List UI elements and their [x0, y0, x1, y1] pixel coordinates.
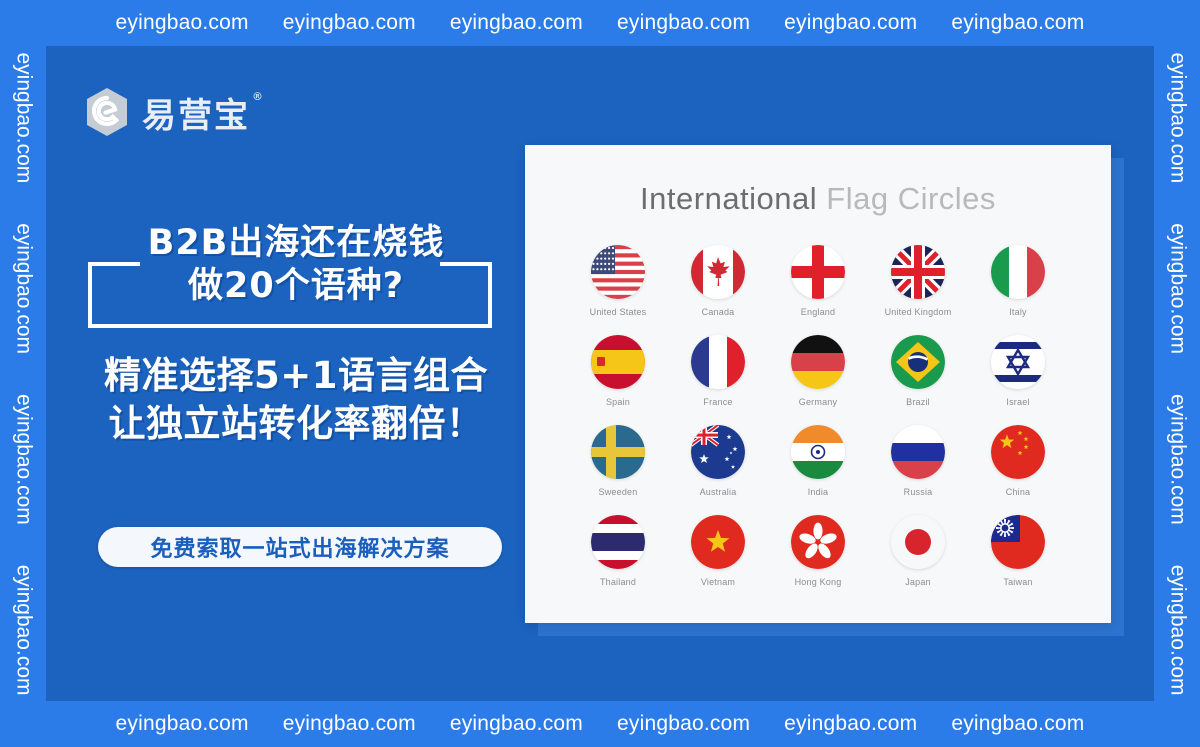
watermark-text: eyingbao.com: [951, 712, 1084, 736]
watermark-text: eyingbao.com: [1165, 223, 1189, 354]
flag-label: Japan: [905, 577, 931, 587]
flag-label: United States: [590, 307, 647, 317]
poster-title-strong: International: [640, 181, 817, 216]
flag-circle-united-kingdom-icon: [891, 245, 945, 299]
watermark-text: eyingbao.com: [617, 11, 750, 35]
watermark-text: eyingbao.com: [784, 712, 917, 736]
flag-item: United Kingdom: [868, 245, 968, 317]
flag-circle-taiwan-icon: [991, 515, 1045, 569]
flag-label: France: [703, 397, 732, 407]
flag-circle-spain-icon: [591, 335, 645, 389]
flag-item: Taiwan: [968, 515, 1068, 587]
flag-circle-hong-kong-icon: [791, 515, 845, 569]
flag-item: United States: [568, 245, 668, 317]
flag-circle-vietnam-icon: [691, 515, 745, 569]
flag-item: Thailand: [568, 515, 668, 587]
flag-circle-thailand-icon: [591, 515, 645, 569]
flag-label: India: [808, 487, 829, 497]
watermark-band-bottom: eyingbao.comeyingbao.comeyingbao.comeyin…: [0, 701, 1200, 747]
watermark-band-top: eyingbao.comeyingbao.comeyingbao.comeyin…: [0, 0, 1200, 46]
watermark-text: eyingbao.com: [116, 11, 249, 35]
headline: B2B出海还在烧钱 做20个语种?: [86, 222, 506, 307]
watermark-text: eyingbao.com: [951, 11, 1084, 35]
flag-label: Vietnam: [701, 577, 735, 587]
flag-label: Taiwan: [1003, 577, 1032, 587]
flag-item: Russia: [868, 425, 968, 497]
flag-item: France: [668, 335, 768, 407]
watermark-band-left: eyingbao.comeyingbao.comeyingbao.comeyin…: [0, 0, 46, 747]
flag-circle-australia-icon: [691, 425, 745, 479]
flag-label: Brazil: [906, 397, 930, 407]
flag-label: Italy: [1009, 307, 1027, 317]
watermark-text: eyingbao.com: [11, 223, 35, 354]
subheadline-line-2: 让独立站转化率翻倍！: [86, 400, 506, 448]
flag-label: Germany: [799, 397, 837, 407]
flag-circle-japan-icon: [891, 515, 945, 569]
flag-circle-italy-icon: [991, 245, 1045, 299]
flag-item: China: [968, 425, 1068, 497]
registered-mark-icon: ®: [252, 91, 265, 102]
brand-wordmark-text: 易营宝: [142, 88, 250, 137]
flag-item: Brazil: [868, 335, 968, 407]
watermark-text: eyingbao.com: [617, 712, 750, 736]
headline-line-1: B2B出海还在烧钱: [148, 223, 445, 263]
hexagon-e-logo-icon: [84, 86, 130, 138]
flag-circle-france-icon: [691, 335, 745, 389]
flag-label: China: [1006, 487, 1031, 497]
flag-item: Italy: [968, 245, 1068, 317]
flag-circle-russia-icon: [891, 425, 945, 479]
subheadline: 精准选择5+1语言组合 让独立站转化率翻倍！: [86, 352, 506, 448]
watermark-text: eyingbao.com: [1165, 564, 1189, 695]
flag-circle-brazil-icon: [891, 335, 945, 389]
flag-circle-england-icon: [791, 245, 845, 299]
banner-canvas: eyingbao.comeyingbao.comeyingbao.comeyin…: [0, 0, 1200, 747]
subheadline-line-1: 精准选择5+1语言组合: [86, 352, 506, 400]
flag-item: India: [768, 425, 868, 497]
watermark-text: eyingbao.com: [283, 11, 416, 35]
watermark-text: eyingbao.com: [450, 712, 583, 736]
flag-item: Vietnam: [668, 515, 768, 587]
flag-item: Hong Kong: [768, 515, 868, 587]
flag-circle-canada-icon: [691, 245, 745, 299]
flag-circle-israel-icon: [991, 335, 1045, 389]
flag-item: Sweeden: [568, 425, 668, 497]
flag-label: Russia: [904, 487, 933, 497]
flag-label: Canada: [702, 307, 735, 317]
flag-label: Spain: [606, 397, 630, 407]
flag-label: Sweeden: [599, 487, 638, 497]
watermark-text: eyingbao.com: [784, 11, 917, 35]
flag-label: Australia: [700, 487, 737, 497]
flag-item: Australia: [668, 425, 768, 497]
brand-wordmark: 易营宝 ®: [142, 88, 265, 137]
watermark-text: eyingbao.com: [11, 564, 35, 695]
poster-title-light: Flag Circles: [817, 181, 996, 216]
flag-item: Japan: [868, 515, 968, 587]
flag-label: Israel: [1006, 397, 1029, 407]
watermark-text: eyingbao.com: [1165, 394, 1189, 525]
flag-item: Israel: [968, 335, 1068, 407]
flag-label: England: [801, 307, 835, 317]
headline-line-2: 做20个语种?: [86, 265, 506, 308]
watermark-text: eyingbao.com: [11, 52, 35, 183]
flag-circle-india-icon: [791, 425, 845, 479]
flag-circle-sweden-icon: [591, 425, 645, 479]
watermark-text: eyingbao.com: [11, 394, 35, 525]
poster-card: International Flag Circles United States…: [525, 145, 1111, 623]
flag-circle-united-states-icon: [591, 245, 645, 299]
flag-circle-china-icon: [991, 425, 1045, 479]
flag-item: England: [768, 245, 868, 317]
poster-title: International Flag Circles: [525, 181, 1111, 217]
flag-item: Spain: [568, 335, 668, 407]
watermark-text: eyingbao.com: [116, 712, 249, 736]
watermark-text: eyingbao.com: [283, 712, 416, 736]
watermark-band-right: eyingbao.comeyingbao.comeyingbao.comeyin…: [1154, 0, 1200, 747]
flag-label: United Kingdom: [885, 307, 952, 317]
flag-label: Thailand: [600, 577, 636, 587]
flag-item: Canada: [668, 245, 768, 317]
flag-item: Germany: [768, 335, 868, 407]
brand-logo: 易营宝 ®: [84, 86, 265, 138]
flag-circle-germany-icon: [791, 335, 845, 389]
watermark-text: eyingbao.com: [1165, 52, 1189, 183]
flag-grid: United StatesCanadaEnglandUnited Kingdom…: [568, 245, 1068, 587]
cta-button[interactable]: 免费索取一站式出海解决方案: [98, 527, 502, 567]
flag-label: Hong Kong: [795, 577, 842, 587]
watermark-text: eyingbao.com: [450, 11, 583, 35]
